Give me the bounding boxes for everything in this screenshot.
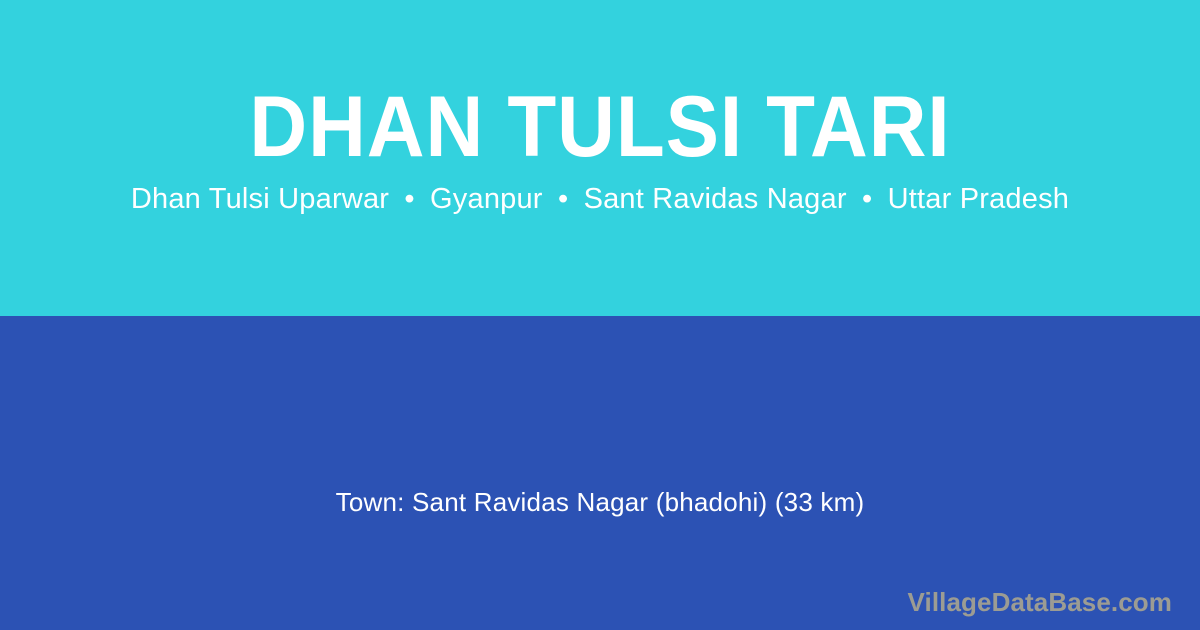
breadcrumb-separator: • bbox=[855, 183, 879, 215]
breadcrumb-item-state: Uttar Pradesh bbox=[888, 183, 1070, 215]
breadcrumb: Dhan Tulsi Uparwar • Gyanpur • Sant Ravi… bbox=[0, 180, 1200, 218]
breadcrumb-item-block: Gyanpur bbox=[430, 183, 543, 215]
site-watermark: VillageDataBase.com bbox=[908, 586, 1172, 618]
breadcrumb-item-village: Dhan Tulsi Uparwar bbox=[131, 183, 389, 215]
nearest-town-detail: Town: Sant Ravidas Nagar (bhadohi) (33 k… bbox=[0, 485, 1200, 519]
nearest-town-label: Town: bbox=[336, 487, 405, 517]
breadcrumb-item-district: Sant Ravidas Nagar bbox=[584, 183, 847, 215]
nearest-town-distance: (33 km) bbox=[775, 487, 865, 517]
breadcrumb-separator: • bbox=[397, 183, 421, 215]
body-band: Town: Sant Ravidas Nagar (bhadohi) (33 k… bbox=[0, 316, 1200, 630]
page-title: DHAN TULSI TARI bbox=[42, 82, 1158, 172]
header-band: DHAN TULSI TARI Dhan Tulsi Uparwar • Gya… bbox=[0, 0, 1200, 316]
village-info-card: DHAN TULSI TARI Dhan Tulsi Uparwar • Gya… bbox=[0, 0, 1200, 630]
breadcrumb-separator: • bbox=[551, 183, 575, 215]
nearest-town-value: Sant Ravidas Nagar (bhadohi) bbox=[412, 487, 767, 517]
